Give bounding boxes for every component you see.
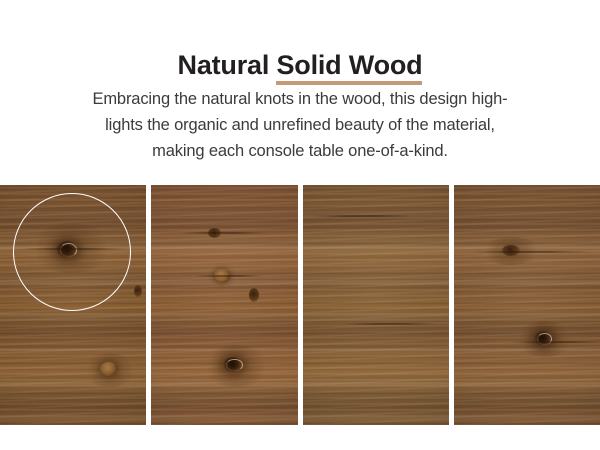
product-feature-page: Natural Solid Wood Embracing the natural…	[0, 0, 600, 450]
wood-texture-gallery	[0, 185, 600, 425]
wood-knot-mid	[534, 331, 552, 346]
wood-panel-2	[151, 185, 297, 425]
grain-streak	[20, 248, 125, 250]
wood-knot-secondary	[100, 362, 117, 376]
grain-streak	[311, 215, 411, 217]
grain-streak	[181, 232, 267, 234]
grain-streak	[195, 275, 263, 277]
description-line-1: Embracing the natural knots in the wood,…	[38, 86, 562, 112]
grain-streak	[343, 323, 439, 325]
description-line-3: making each console table one-of-a-kind.	[38, 138, 562, 164]
wood-panel-3	[303, 185, 449, 425]
wood-knot-tertiary	[134, 285, 142, 297]
description-line-2: lights the organic and unrefined beauty …	[38, 112, 562, 138]
grain-streak	[472, 251, 592, 253]
wood-shade-layer	[454, 185, 600, 425]
grain-streak	[510, 341, 600, 343]
wood-panel-1	[0, 185, 146, 425]
page-title-plain: Natural	[178, 50, 277, 80]
page-title-accented: Solid Wood	[276, 50, 422, 85]
description-paragraph: Embracing the natural knots in the wood,…	[38, 86, 562, 164]
wood-panel-4	[454, 185, 600, 425]
wood-shade-layer	[151, 185, 297, 425]
wood-shade-layer	[0, 185, 146, 425]
wood-shade-layer	[303, 185, 449, 425]
page-title: Natural Solid Wood	[178, 48, 423, 82]
